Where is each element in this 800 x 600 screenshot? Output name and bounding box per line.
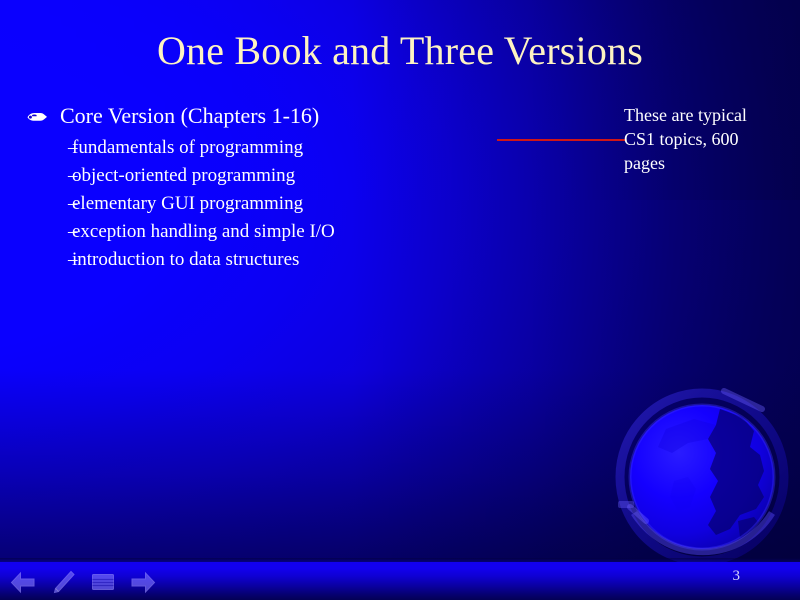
pointing-hand-icon [24, 103, 60, 132]
nav-icon-group [10, 570, 156, 594]
dash-marker: – [24, 190, 72, 218]
callout-line-3: pages [624, 151, 800, 175]
list-item-text: elementary GUI programming [72, 190, 303, 218]
callout-line-1: These are typical [624, 103, 800, 127]
bullet-level1: Core Version (Chapters 1-16) [24, 101, 494, 132]
bullet-level1-text: Core Version (Chapters 1-16) [60, 101, 319, 130]
slide-title: One Book and Three Versions [0, 27, 800, 75]
list-item-text: object-oriented programming [72, 162, 295, 190]
page-icon[interactable] [90, 570, 116, 594]
callout-leader-line [497, 139, 625, 141]
list-item: – elementary GUI programming [24, 190, 494, 218]
list-item-text: exception handling and simple I/O [72, 218, 335, 246]
list-item: – introduction to data structures [24, 246, 494, 274]
callout-text: These are typical CS1 topics, 600 pages [624, 103, 800, 175]
list-item-text: introduction to data structures [72, 246, 299, 274]
slide-body: Core Version (Chapters 1-16) – fundament… [24, 101, 494, 274]
dash-marker: – [24, 246, 72, 274]
dash-marker: – [24, 218, 72, 246]
right-arrow-icon[interactable] [130, 570, 156, 594]
slide-nav-bar: 3 [0, 562, 800, 600]
callout-line-2: CS1 topics, 600 [624, 127, 800, 151]
dash-marker: – [24, 162, 72, 190]
list-item: – exception handling and simple I/O [24, 218, 494, 246]
page-number: 3 [733, 568, 741, 584]
list-item: – object-oriented programming [24, 162, 494, 190]
dash-marker: – [24, 134, 72, 162]
slide-canvas: One Book and Three Versions Core Version… [0, 0, 800, 600]
pen-icon[interactable] [50, 570, 76, 594]
list-item-text: fundamentals of programming [72, 134, 303, 162]
list-item: – fundamentals of programming [24, 134, 494, 162]
left-arrow-icon[interactable] [10, 570, 36, 594]
